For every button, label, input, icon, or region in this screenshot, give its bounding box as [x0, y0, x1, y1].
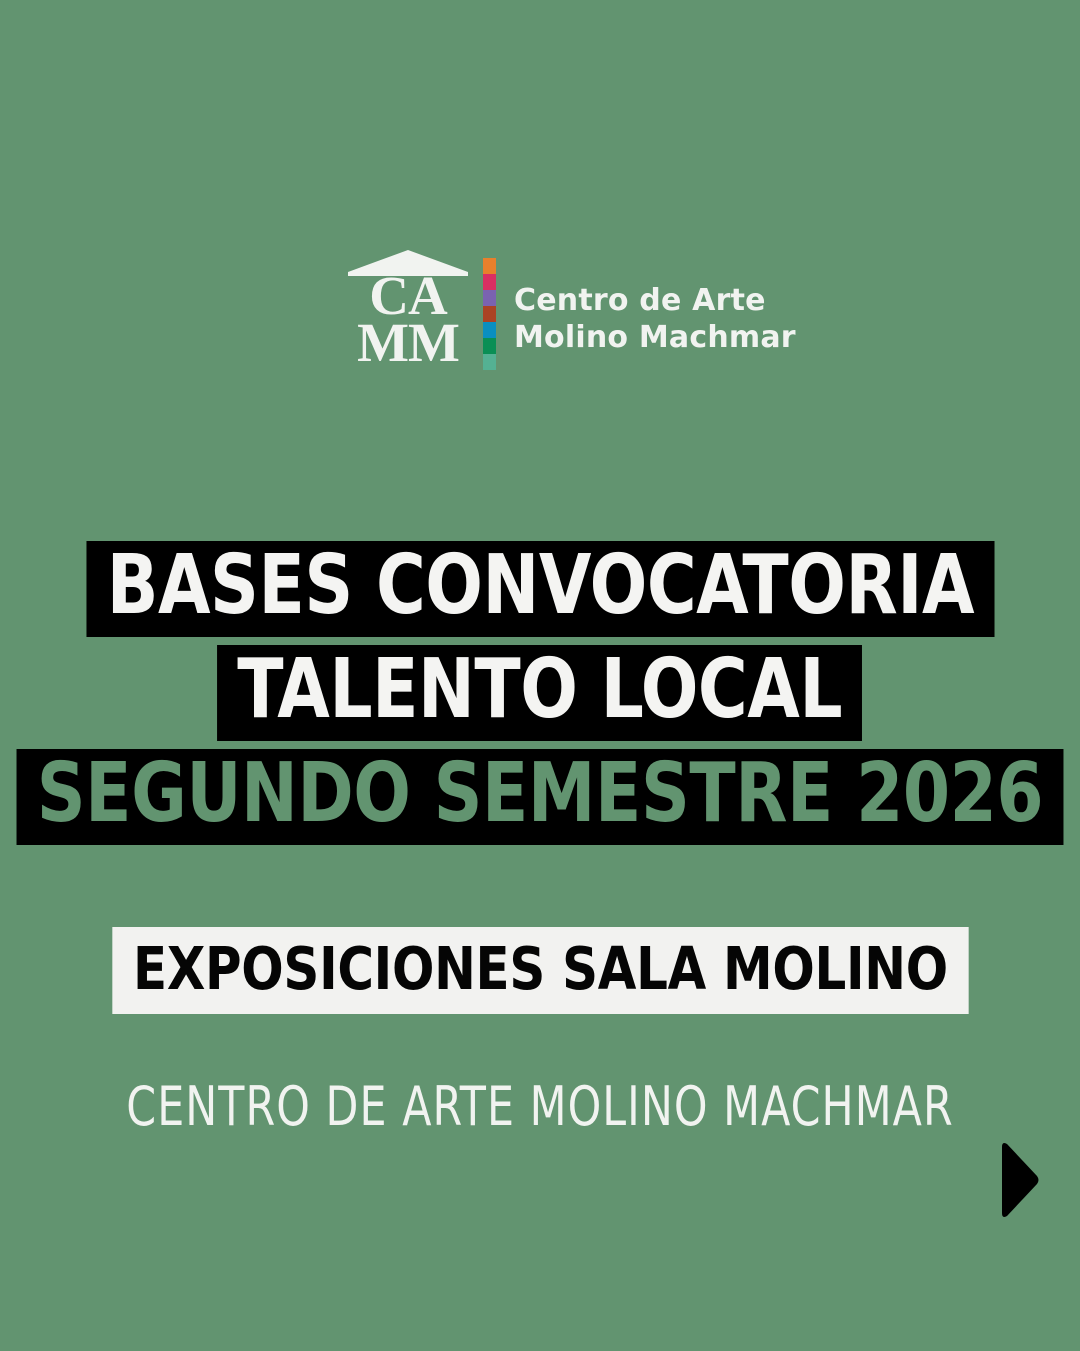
- camm-monogram: CA MM: [345, 272, 471, 376]
- color-swatch-rust: [483, 306, 496, 322]
- play-triangle-right-icon[interactable]: [998, 1141, 1040, 1219]
- camm-logo-mark: CA MM: [345, 248, 471, 376]
- subtitle-band: EXPOSICIONES SALA MOLINO: [0, 927, 1080, 1014]
- logo-wordmark: Centro de Arte Molino Machmar: [514, 267, 796, 356]
- headline-line-3: SEGUNDO SEMESTRE 2026: [17, 749, 1064, 845]
- headline-line-1: BASES CONVOCATORIA: [86, 541, 994, 637]
- monogram-line-2: MM: [345, 319, 471, 366]
- color-swatch-purple: [483, 290, 496, 306]
- subtitle-text: EXPOSICIONES SALA MOLINO: [112, 927, 968, 1014]
- color-swatch-green: [483, 338, 496, 354]
- color-swatch-orange: [483, 258, 496, 274]
- logo-color-bar: [483, 258, 496, 370]
- headline-group: BASES CONVOCATORIA TALENTO LOCAL SEGUNDO…: [0, 541, 1080, 853]
- wordmark-line-2: Molino Machmar: [514, 320, 796, 357]
- footer-organization: CENTRO DE ARTE MOLINO MACHMAR: [65, 1080, 1015, 1134]
- wordmark-line-1: Centro de Arte: [514, 283, 796, 320]
- camm-logo: CA MM Centro de Arte Molino Machmar: [345, 248, 735, 376]
- color-swatch-teal: [483, 354, 496, 370]
- poster-slide: CA MM Centro de Arte Molino Machmar BASE…: [0, 0, 1080, 1351]
- color-swatch-blue: [483, 322, 496, 338]
- headline-line-2: TALENTO LOCAL: [217, 645, 862, 741]
- color-swatch-magenta: [483, 274, 496, 290]
